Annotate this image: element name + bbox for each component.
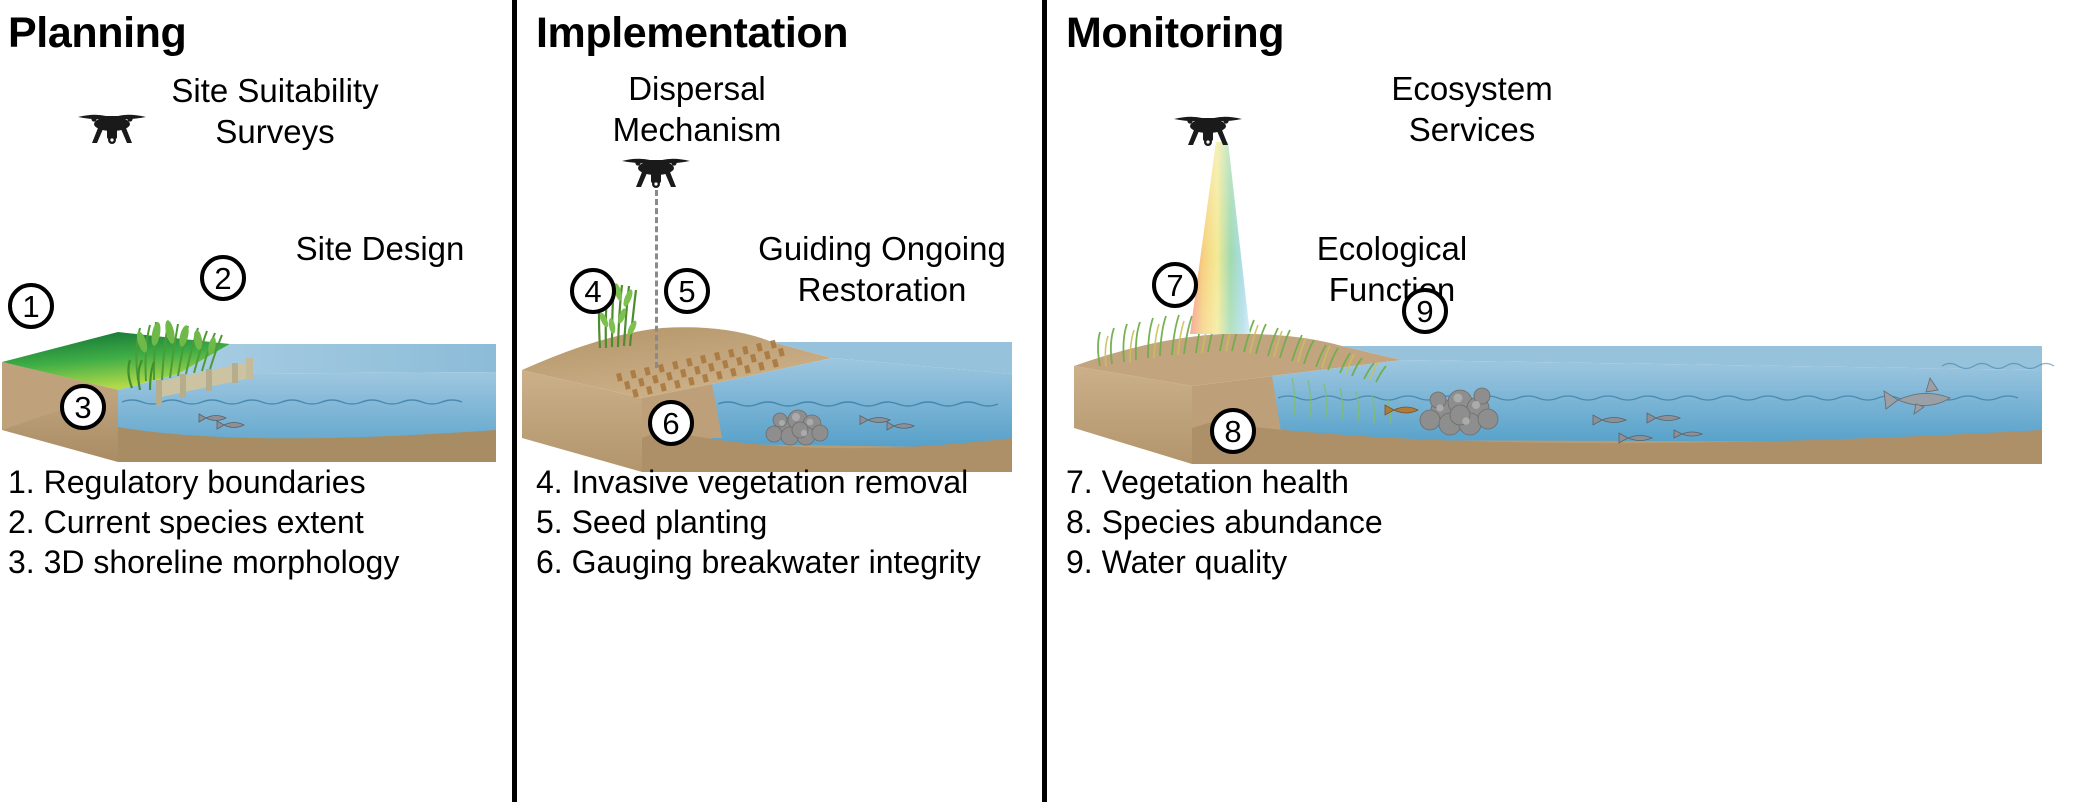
callout-ecological-function: Ecological Function xyxy=(1262,228,1522,310)
legend-item: 1. Regulatory boundaries xyxy=(8,462,399,502)
marker-9: 9 xyxy=(1402,288,1448,334)
marker-5: 5 xyxy=(664,268,710,314)
callout-dispersal-mechanism: Dispersal Mechanism xyxy=(572,68,822,150)
panel-title-implementation: Implementation xyxy=(536,12,848,55)
scene-planning xyxy=(0,262,500,462)
marker-8: 8 xyxy=(1210,408,1256,454)
legend-item: 9. Water quality xyxy=(1066,542,1383,582)
marker-6: 6 xyxy=(648,400,694,446)
drone-icon xyxy=(620,152,692,190)
callout-site-design: Site Design xyxy=(270,228,490,269)
panel-title-planning: Planning xyxy=(8,12,186,55)
marker-3: 3 xyxy=(60,384,106,430)
rock-breakwater-shape xyxy=(1420,388,1498,435)
marker-4: 4 xyxy=(570,268,616,314)
panel-divider-2 xyxy=(1042,0,1047,802)
panel-monitoring: Monitoring Ecosystem Services xyxy=(1042,0,2100,802)
marker-1: 1 xyxy=(8,283,54,329)
callout-site-suitability-surveys: Site Suitability Surveys xyxy=(160,70,390,152)
legend-monitoring: 7. Vegetation health 8. Species abundanc… xyxy=(1066,462,1383,582)
legend-planning: 1. Regulatory boundaries 2. Current spec… xyxy=(8,462,399,582)
panel-implementation: Implementation Dispersal Mechanism Guidi… xyxy=(512,0,1042,802)
marker-2: 2 xyxy=(200,255,246,301)
drone-icon xyxy=(1172,110,1244,148)
restoration-workflow-figure: Planning Site Suitability Surveys Site D… xyxy=(0,0,2100,802)
legend-item: 5. Seed planting xyxy=(536,502,981,542)
legend-item: 3. 3D shoreline morphology xyxy=(8,542,399,582)
callout-ecosystem-services: Ecosystem Services xyxy=(1332,68,1612,150)
legend-item: 2. Current species extent xyxy=(8,502,399,542)
seed-drop-dashed-line xyxy=(655,190,658,368)
legend-item: 8. Species abundance xyxy=(1066,502,1383,542)
legend-item: 4. Invasive vegetation removal xyxy=(536,462,981,502)
panel-planning: Planning Site Suitability Surveys Site D… xyxy=(0,0,512,802)
drone-icon xyxy=(76,108,148,146)
panel-divider-1 xyxy=(512,0,517,802)
legend-implementation: 4. Invasive vegetation removal 5. Seed p… xyxy=(536,462,981,582)
callout-guiding-ongoing-restoration: Guiding Ongoing Restoration xyxy=(742,228,1022,310)
marker-7: 7 xyxy=(1152,262,1198,308)
legend-item: 6. Gauging breakwater integrity xyxy=(536,542,981,582)
panel-title-monitoring: Monitoring xyxy=(1066,12,1284,55)
legend-item: 7. Vegetation health xyxy=(1066,462,1383,502)
